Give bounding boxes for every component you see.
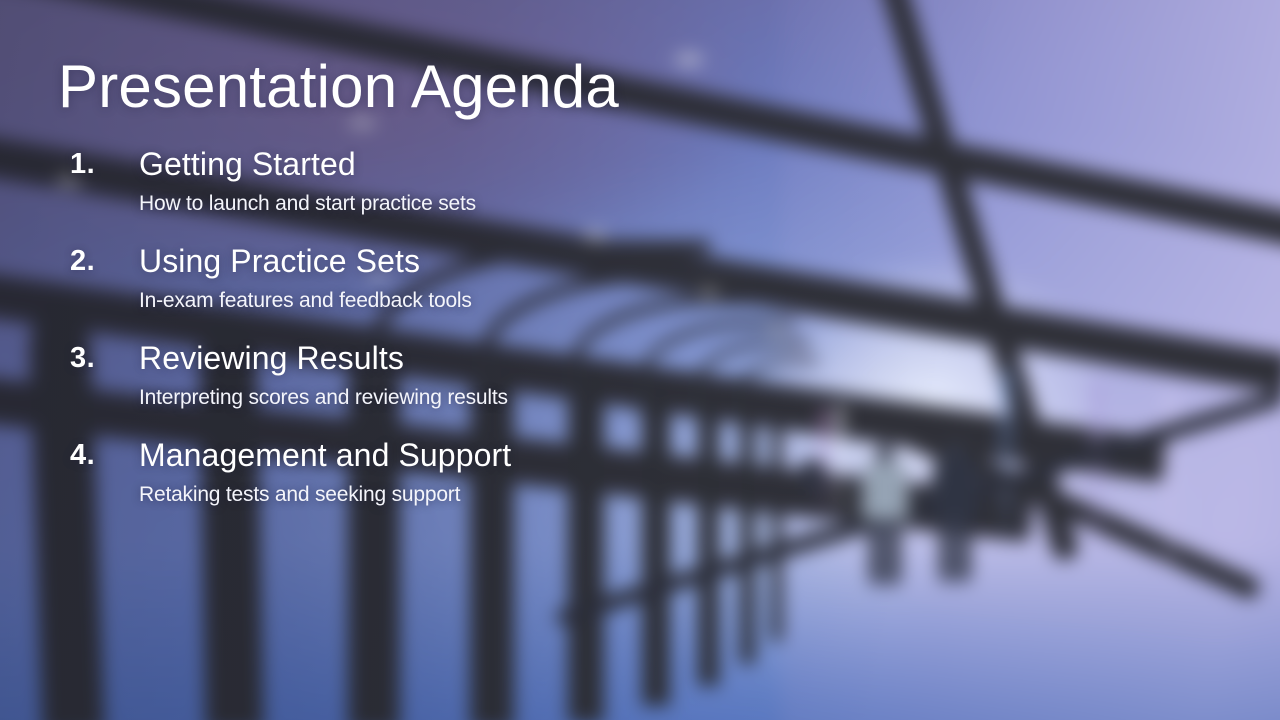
agenda-item-number: 1. <box>70 148 128 181</box>
agenda-item[interactable]: 2. Using Practice Sets In-exam features … <box>0 243 700 340</box>
agenda-item[interactable]: 3. Reviewing Results Interpreting scores… <box>0 340 700 437</box>
agenda-item[interactable]: 4. Management and Support Retaking tests… <box>0 437 700 534</box>
slide-content: Presentation Agenda 1. Getting Started H… <box>0 0 1280 720</box>
agenda-item-heading: Getting Started <box>139 144 356 184</box>
agenda-list: 1. Getting Started How to launch and sta… <box>0 146 700 534</box>
agenda-item-number: 4. <box>70 439 128 472</box>
agenda-item-subtitle: How to launch and start practice sets <box>139 190 476 217</box>
agenda-item-heading: Reviewing Results <box>139 338 404 378</box>
agenda-item-heading: Using Practice Sets <box>139 241 420 281</box>
agenda-item-number: 3. <box>70 342 128 375</box>
agenda-item-subtitle: In-exam features and feedback tools <box>139 287 472 314</box>
agenda-item[interactable]: 1. Getting Started How to launch and sta… <box>0 146 700 243</box>
agenda-item-heading: Management and Support <box>139 435 511 475</box>
agenda-item-subtitle: Retaking tests and seeking support <box>139 481 460 508</box>
slide-title: Presentation Agenda <box>58 55 619 118</box>
agenda-item-subtitle: Interpreting scores and reviewing result… <box>139 384 508 411</box>
agenda-item-number: 2. <box>70 245 128 278</box>
presentation-slide: Presentation Agenda 1. Getting Started H… <box>0 0 1280 720</box>
